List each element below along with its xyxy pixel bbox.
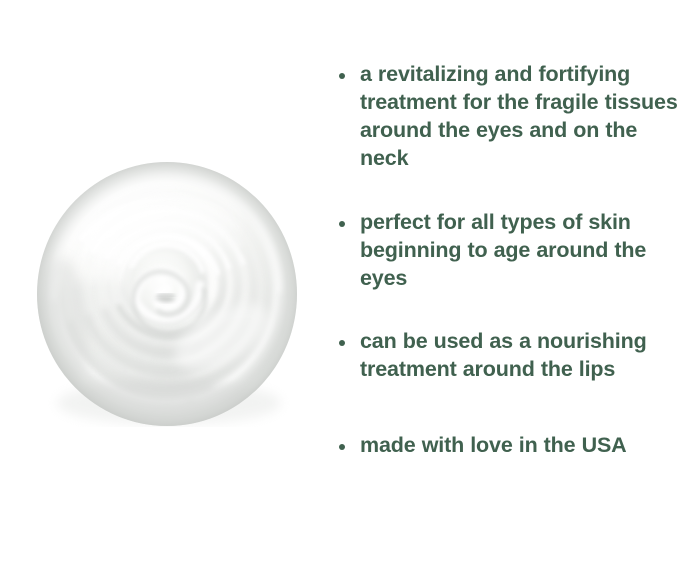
feature-bullet-list: a revitalizing and fortifying treatment …: [334, 60, 679, 459]
bullet-item: perfect for all types of skin beginning …: [334, 208, 679, 292]
bullet-item: a revitalizing and fortifying treatment …: [334, 60, 679, 172]
bullet-dot-icon: [339, 221, 345, 227]
bullet-text: can be used as a nourishing treatment ar…: [360, 327, 679, 383]
product-feature-graphic: a revitalizing and fortifying treatment …: [0, 0, 679, 580]
bullet-text: a revitalizing and fortifying treatment …: [360, 60, 679, 172]
product-image-panel: [0, 0, 320, 580]
bullet-text: perfect for all types of skin beginning …: [360, 208, 679, 292]
bullet-dot-icon: [339, 340, 345, 346]
bullet-dot-icon: [339, 444, 345, 450]
bullet-item: made with love in the USA: [334, 431, 679, 459]
bullet-dot-icon: [339, 73, 345, 79]
bullet-text: made with love in the USA: [360, 431, 679, 459]
cream-swirl-image: [36, 161, 298, 427]
bullet-item: can be used as a nourishing treatment ar…: [334, 327, 679, 383]
